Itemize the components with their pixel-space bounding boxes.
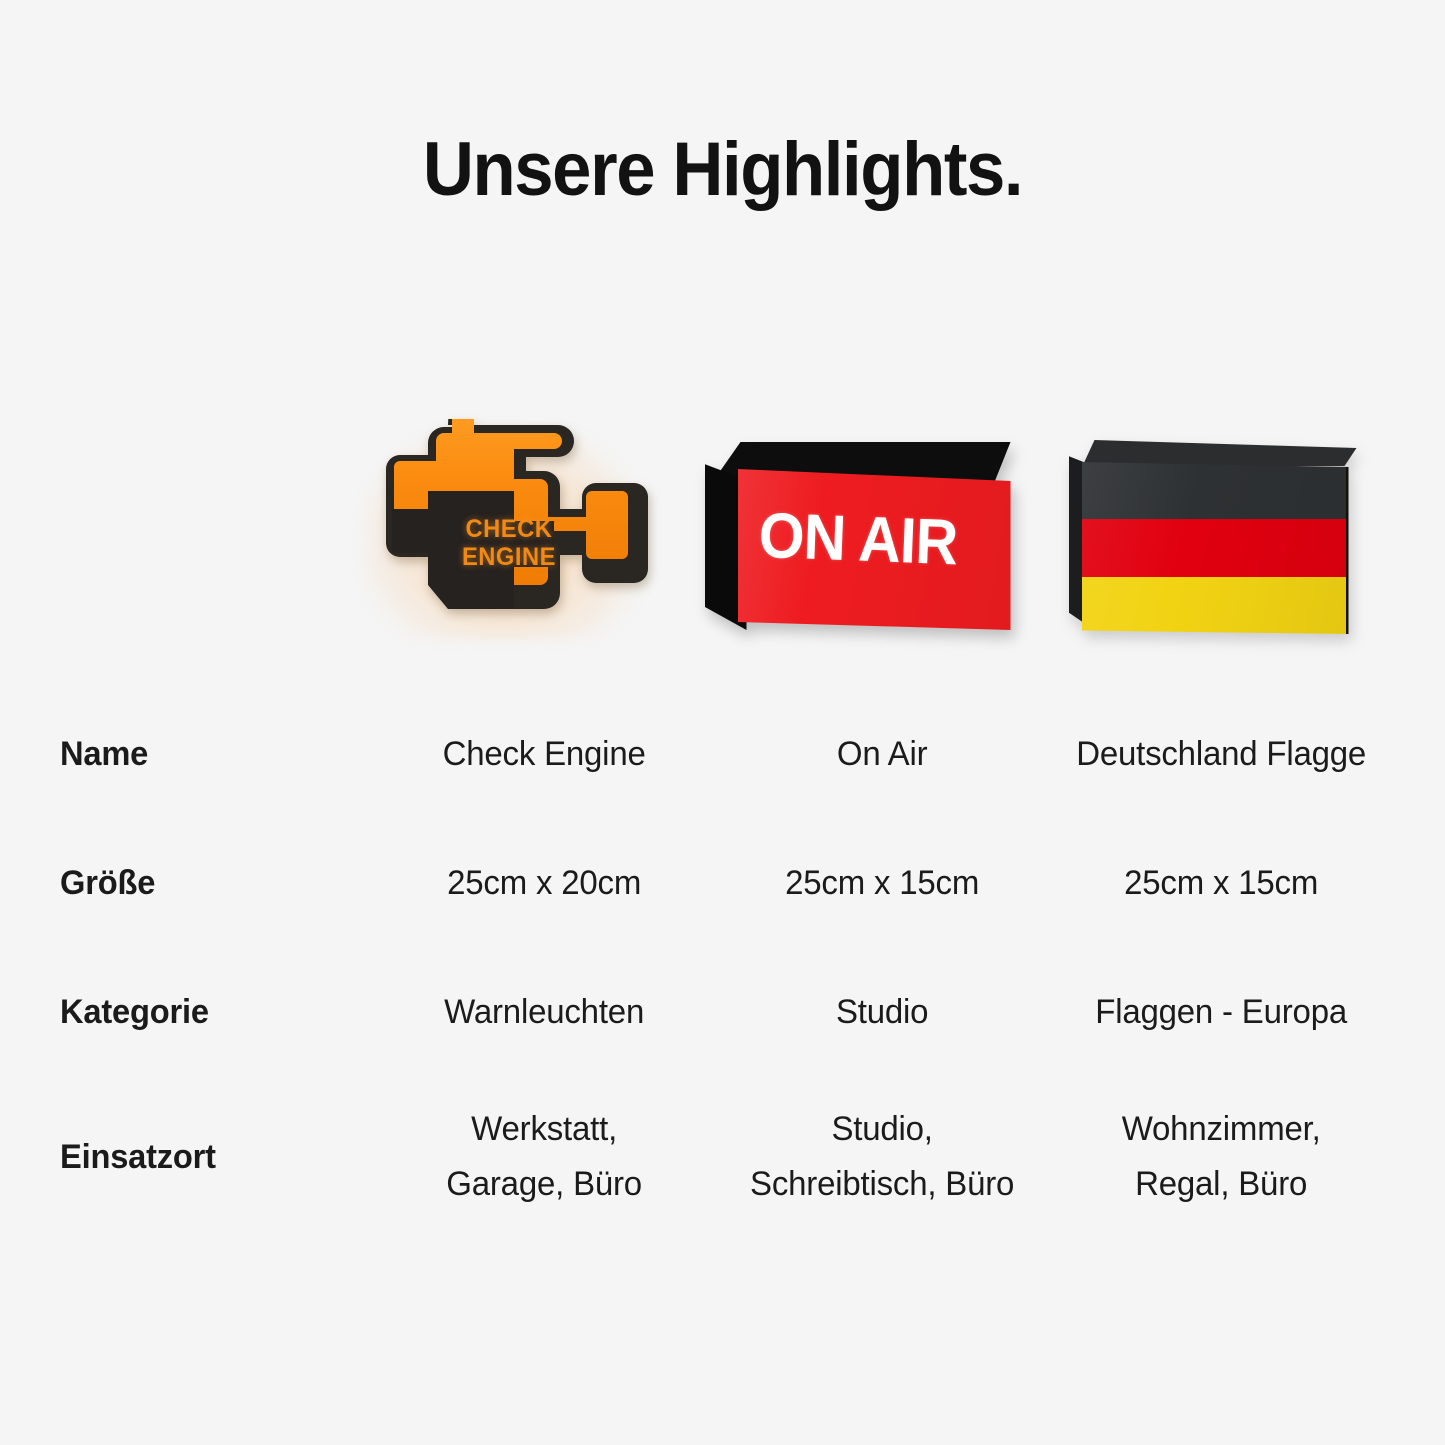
usage-line-2: Regal, Büro: [1057, 1157, 1385, 1212]
flag-box-face: [1082, 462, 1349, 634]
product-image-check-engine[interactable]: CHECK ENGINE: [325, 400, 680, 665]
cell-size-on-air: 25cm x 15cm: [719, 819, 1047, 948]
check-engine-shape-icon: [353, 419, 653, 651]
product-comparison-table: Name Check Engine On Air Deutschland Fla…: [60, 690, 1390, 1237]
usage-line-1: Studio,: [832, 1110, 933, 1148]
row-label-usage: Einsatzort: [60, 1077, 363, 1237]
cell-name-check-engine: Check Engine: [380, 690, 708, 819]
on-air-label: ON AIR: [757, 497, 958, 579]
cell-usage-on-air: Studio, Schreibtisch, Büro: [719, 1077, 1047, 1237]
image-row-label-spacer: [60, 400, 325, 665]
check-engine-lamp-icon[interactable]: CHECK ENGINE: [353, 419, 653, 651]
product-image-row: CHECK ENGINE ON AIR: [60, 400, 1390, 665]
cell-name-deutschland-flagge: Deutschland Flagge: [1057, 690, 1385, 819]
flag-box-top: [1069, 440, 1357, 466]
cell-category-check-engine: Warnleuchten: [380, 948, 708, 1077]
cell-category-deutschland-flagge: Flaggen - Europa: [1057, 948, 1385, 1077]
cell-category-on-air: Studio: [719, 948, 1047, 1077]
usage-line-1: Werkstatt,: [471, 1110, 617, 1148]
usage-line-2: Garage, Büro: [380, 1157, 708, 1212]
table-row-usage: Einsatzort Werkstatt, Garage, Büro Studi…: [60, 1077, 1390, 1237]
row-label-name: Name: [60, 690, 363, 819]
row-label-category: Kategorie: [60, 948, 363, 1077]
product-image-deutschland-flagge[interactable]: [1035, 400, 1390, 665]
table-row-name: Name Check Engine On Air Deutschland Fla…: [60, 690, 1390, 819]
cell-usage-check-engine: Werkstatt, Garage, Büro: [380, 1077, 708, 1237]
german-flag-lightbox-icon[interactable]: [1069, 440, 1357, 640]
cell-size-deutschland-flagge: 25cm x 15cm: [1057, 819, 1385, 948]
on-air-lightbox-icon[interactable]: ON AIR: [705, 442, 1011, 637]
cell-size-check-engine: 25cm x 20cm: [380, 819, 708, 948]
page-title: Unsere Highlights.: [51, 126, 1395, 213]
table-row-size: Größe 25cm x 20cm 25cm x 15cm 25cm x 15c…: [60, 819, 1390, 948]
table-row-category: Kategorie Warnleuchten Studio Flaggen - …: [60, 948, 1390, 1077]
row-label-size: Größe: [60, 819, 363, 948]
highlights-page: Unsere Highlights.: [0, 0, 1445, 1445]
cell-usage-deutschland-flagge: Wohnzimmer, Regal, Büro: [1057, 1077, 1385, 1237]
product-image-on-air[interactable]: ON AIR: [680, 400, 1035, 665]
usage-line-1: Wohnzimmer,: [1121, 1110, 1320, 1148]
cell-name-on-air: On Air: [719, 690, 1047, 819]
flag-face-sheen: [1082, 462, 1346, 634]
usage-line-2: Schreibtisch, Büro: [719, 1157, 1047, 1212]
